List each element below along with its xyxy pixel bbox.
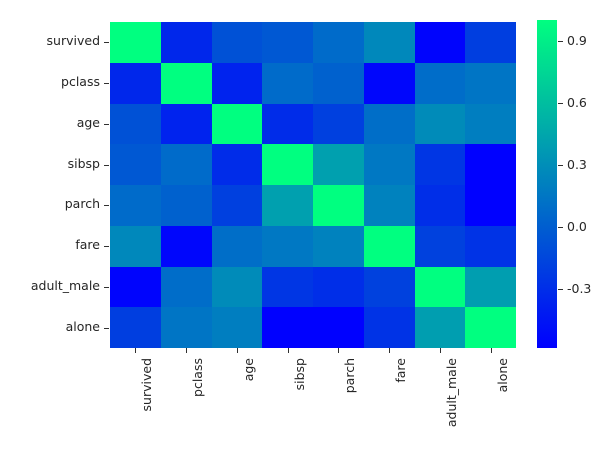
heatmap-cell — [465, 104, 516, 145]
heatmap-cell — [415, 63, 466, 104]
heatmap-cell — [161, 226, 212, 267]
heatmap-cell — [415, 307, 466, 348]
x-axis-tick-label: fare — [395, 358, 408, 383]
x-axis-tick-label: alone — [497, 358, 510, 392]
colorbar-tick-mark — [558, 103, 563, 104]
y-axis-tick-label: adult_male — [0, 280, 100, 293]
y-axis-tick-label: alone — [0, 321, 100, 334]
x-axis-tick-mark — [389, 348, 390, 353]
y-axis-tick-mark — [104, 42, 109, 43]
heatmap-cell — [110, 267, 161, 308]
heatmap-cell — [110, 104, 161, 145]
heatmap-cell — [364, 144, 415, 185]
heatmap-cell — [313, 267, 364, 308]
y-axis-tick-mark — [104, 246, 109, 247]
heatmap-cell — [212, 22, 263, 63]
x-axis-tick-mark — [237, 348, 238, 353]
heatmap-cell — [161, 185, 212, 226]
x-axis-tick-mark — [491, 348, 492, 353]
heatmap-cell — [415, 267, 466, 308]
heatmap-cell — [364, 226, 415, 267]
colorbar-tick-mark — [558, 289, 563, 290]
heatmap-cell — [415, 144, 466, 185]
heatmap-cell — [465, 307, 516, 348]
heatmap-cell — [262, 185, 313, 226]
heatmap-cell — [313, 22, 364, 63]
heatmap-cell — [465, 63, 516, 104]
y-axis-tick-mark — [104, 328, 109, 329]
x-axis-tick-label: pclass — [192, 358, 205, 397]
heatmap-cell — [212, 63, 263, 104]
heatmap-cell — [364, 104, 415, 145]
colorbar-tick-label: 0.3 — [567, 159, 587, 172]
heatmap-cell — [313, 144, 364, 185]
heatmap-cell — [161, 104, 212, 145]
correlation-heatmap-figure: survivedpclassagesibspparchfareadult_mal… — [0, 0, 608, 456]
heatmap-cell — [364, 307, 415, 348]
heatmap-cell — [415, 104, 466, 145]
heatmap-cell — [262, 226, 313, 267]
x-axis-tick-mark — [338, 348, 339, 353]
heatmap-cell — [415, 22, 466, 63]
heatmap-cell — [364, 267, 415, 308]
heatmap-cell — [313, 307, 364, 348]
heatmap-cell — [110, 226, 161, 267]
heatmap-cell — [262, 63, 313, 104]
heatmap-cell — [262, 22, 313, 63]
y-axis-tick-label: age — [0, 117, 100, 130]
y-axis-tick-mark — [104, 165, 109, 166]
x-axis-tick-mark — [135, 348, 136, 353]
heatmap-cell — [161, 22, 212, 63]
colorbar-tick-label: 0.9 — [567, 34, 587, 47]
y-axis-tick-labels: survivedpclassagesibspparchfareadult_mal… — [0, 22, 100, 348]
x-axis-tick-mark — [288, 348, 289, 353]
heatmap-cell — [161, 307, 212, 348]
heatmap-cell — [110, 185, 161, 226]
heatmap-cell — [313, 104, 364, 145]
x-axis-tick-mark — [186, 348, 187, 353]
y-axis-tick-label: sibsp — [0, 158, 100, 171]
colorbar-tick-mark — [558, 227, 563, 228]
y-axis-tick-label: pclass — [0, 76, 100, 89]
heatmap-cell — [465, 267, 516, 308]
heatmap-cell — [161, 144, 212, 185]
heatmap-cell — [465, 144, 516, 185]
y-axis-tick-mark — [104, 205, 109, 206]
x-axis-tick-label: age — [243, 358, 256, 381]
heatmap-cell — [262, 307, 313, 348]
colorbar-tick-label: -0.3 — [567, 283, 591, 296]
heatmap-cell — [212, 185, 263, 226]
x-axis-tick-label: survived — [141, 358, 154, 411]
heatmap-cell — [415, 185, 466, 226]
heatmap-cell — [465, 185, 516, 226]
y-axis-tick-label: parch — [0, 198, 100, 211]
colorbar-tick-mark — [558, 165, 563, 166]
heatmap-cell — [161, 267, 212, 308]
heatmap-cell — [262, 267, 313, 308]
y-axis-tick-mark — [104, 287, 109, 288]
heatmap-cell — [364, 63, 415, 104]
heatmap-cell — [262, 144, 313, 185]
heatmap-cell — [110, 63, 161, 104]
y-axis-tick-label: fare — [0, 239, 100, 252]
heatmap-cell — [262, 104, 313, 145]
x-axis-tick-labels: survivedpclassagesibspparchfareadult_mal… — [110, 348, 516, 456]
heatmap-cell — [212, 226, 263, 267]
x-axis-tick-mark — [440, 348, 441, 353]
colorbar: 0.90.60.30.0-0.3 — [537, 20, 607, 350]
y-axis-tick-mark — [104, 83, 109, 84]
heatmap-cell — [212, 267, 263, 308]
colorbar-tick-mark — [558, 41, 563, 42]
heatmap-cell — [364, 185, 415, 226]
colorbar-tick-label: 0.0 — [567, 221, 587, 234]
heatmap-cell — [110, 144, 161, 185]
heatmap-cell — [313, 63, 364, 104]
colorbar-gradient — [537, 20, 557, 348]
y-axis-tick-mark — [104, 124, 109, 125]
heatmap-cell — [465, 22, 516, 63]
heatmap-cell — [110, 22, 161, 63]
x-axis-tick-label: adult_male — [446, 358, 459, 427]
heatmap-cell — [313, 226, 364, 267]
heatmap-grid — [110, 22, 516, 348]
colorbar-tick-label: 0.6 — [567, 97, 587, 110]
y-axis-tick-label: survived — [0, 35, 100, 48]
heatmap-cell — [110, 307, 161, 348]
heatmap-cell — [212, 307, 263, 348]
heatmap-cell — [465, 226, 516, 267]
x-axis-tick-label: sibsp — [294, 358, 307, 390]
heatmap-cell — [212, 144, 263, 185]
heatmap-cell — [161, 63, 212, 104]
heatmap-cell — [364, 22, 415, 63]
heatmap-cell — [415, 226, 466, 267]
heatmap-cell — [313, 185, 364, 226]
heatmap-cell — [212, 104, 263, 145]
x-axis-tick-label: parch — [344, 358, 357, 393]
